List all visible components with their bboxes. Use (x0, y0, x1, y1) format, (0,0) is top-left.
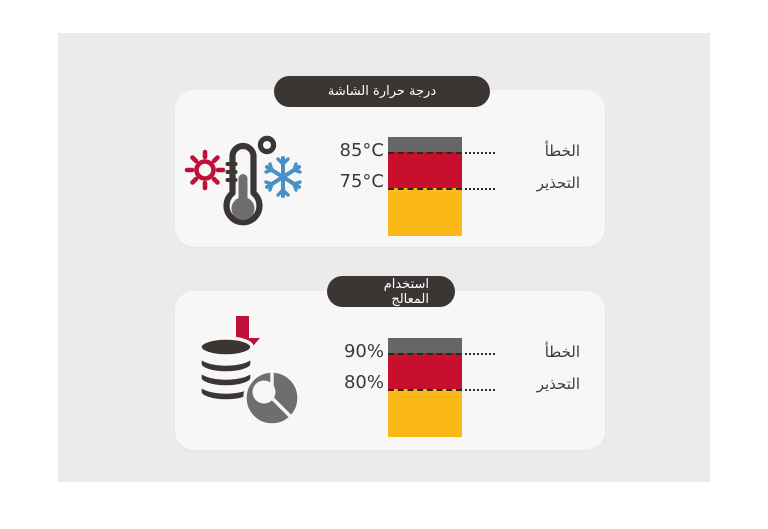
thermometer-glyph (227, 138, 274, 222)
label-error-screen-temperature: الخطأ (500, 142, 580, 160)
bar-boundary-error (388, 353, 462, 355)
leader-line-warning (465, 389, 495, 391)
leader-line-error (465, 152, 495, 154)
sun-icon (187, 152, 223, 188)
bar-segment-error (388, 137, 462, 152)
pie-chart-icon (245, 371, 299, 425)
card-title-screen-temperature: درجة حرارة الشاشة (274, 76, 490, 107)
bar-segment-normal (388, 389, 462, 437)
database-download-pie-icon (192, 312, 312, 432)
bar-segment-normal (388, 188, 462, 236)
bar-segment-error (388, 338, 462, 353)
label-error-processor-usage: الخطأ (500, 343, 580, 361)
bar-boundary-warning (388, 188, 462, 190)
label-warning-processor-usage: التحذير (500, 375, 580, 393)
bar-segment-warning (388, 353, 462, 389)
label-warning-screen-temperature: التحذير (500, 174, 580, 192)
snowflake-icon (266, 158, 300, 196)
value-error-screen-temperature: 85°C (314, 140, 384, 161)
value-warning-screen-temperature: 75°C (314, 171, 384, 192)
infographic-canvas: درجة حرارة الشاشة (0, 0, 768, 529)
leader-line-error (465, 353, 495, 355)
thermometer-sun-snowflake-icon (183, 130, 303, 240)
leader-line-warning (465, 188, 495, 190)
bar-segment-warning (388, 152, 462, 188)
pill-label-text: استخدام المعالج (353, 277, 429, 307)
bar-boundary-warning (388, 389, 462, 391)
pill-label-text: درجة حرارة الشاشة (328, 84, 436, 99)
bar-boundary-error (388, 152, 462, 154)
value-warning-processor-usage: 80% (314, 372, 384, 393)
value-error-processor-usage: 90% (314, 341, 384, 362)
degree-symbol-icon (260, 138, 273, 151)
card-title-processor-usage: استخدام المعالج (327, 276, 455, 307)
